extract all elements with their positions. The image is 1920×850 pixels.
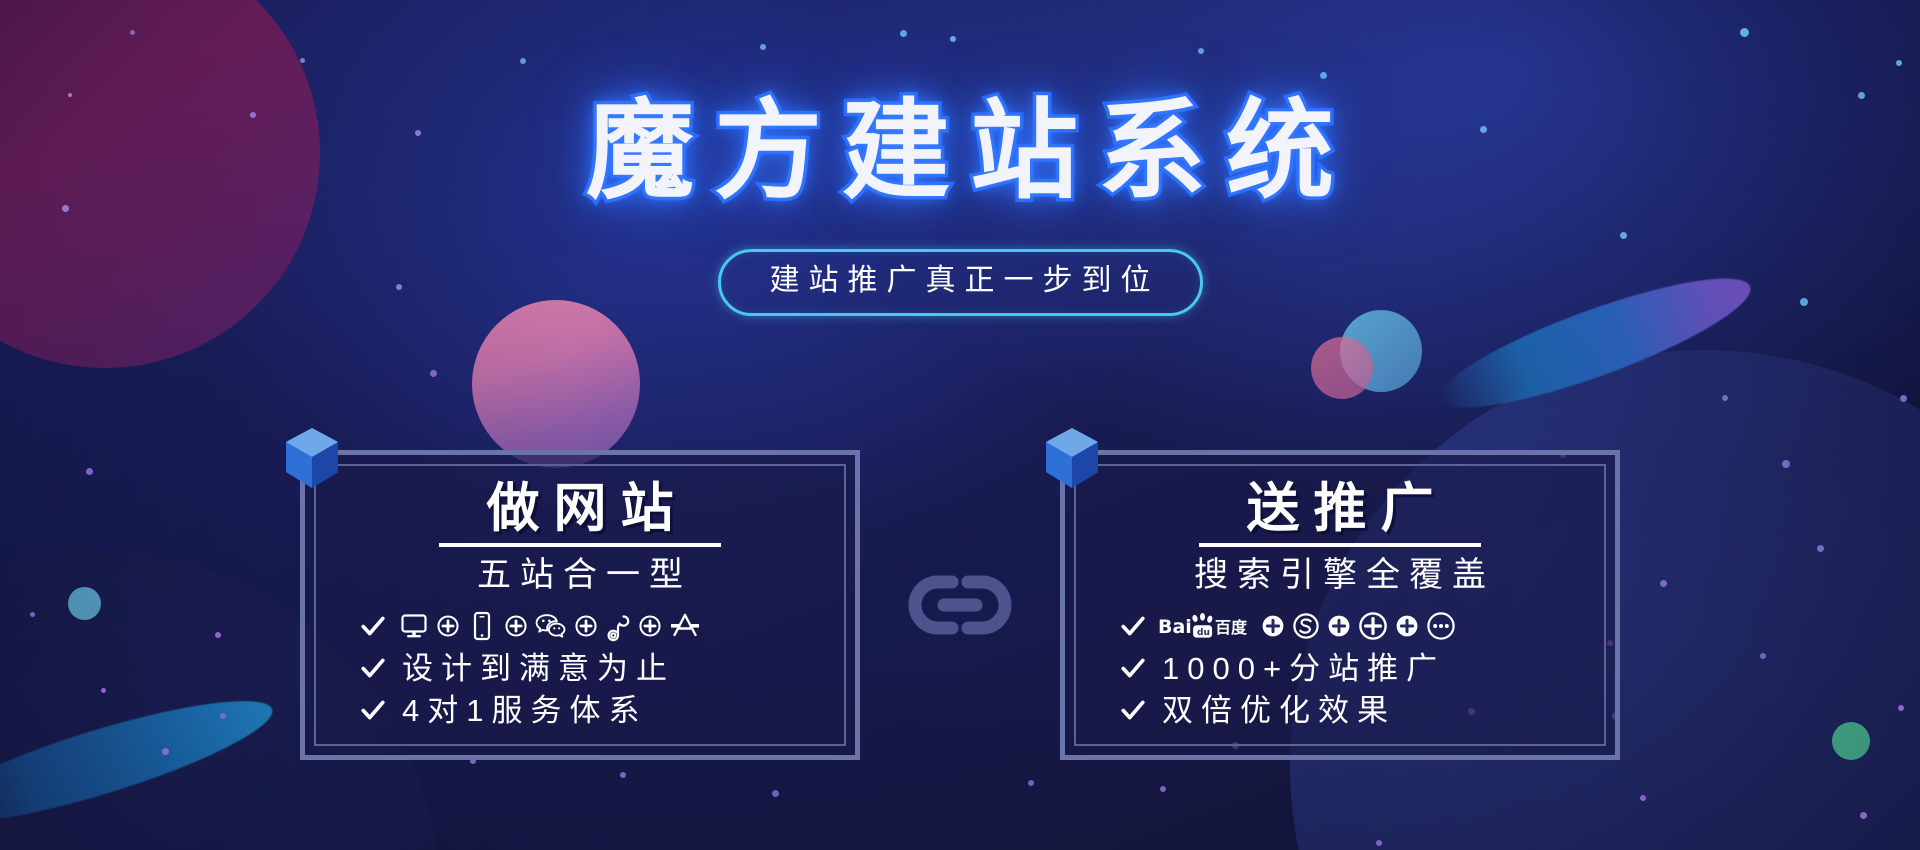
check-icon (1120, 697, 1146, 723)
feature-label: 设计到满意为止 (398, 653, 675, 684)
hero-block: 魔方建站系统 建站推广真正一步到位 (0, 92, 1920, 316)
feature-row: 设计到满意为止 (316, 647, 844, 689)
360-search-icon (1358, 611, 1388, 641)
check-icon (360, 655, 386, 681)
star-dot (1896, 60, 1902, 66)
monitor-icon (398, 610, 430, 642)
feature-label: 4对1服务体系 (398, 695, 647, 726)
panel-subheading: 五站合一型 (468, 553, 692, 599)
star-dot (520, 58, 526, 64)
star-dot (1376, 840, 1382, 846)
more-icon (1426, 611, 1456, 641)
star-dot (620, 772, 626, 778)
feature-list: 设计到满意为止 4对1服务体系 (316, 605, 844, 731)
wechat-icon (534, 610, 568, 642)
page-title: 魔方建站系统 (0, 92, 1920, 213)
plus-icon (505, 615, 527, 637)
star-dot (300, 58, 305, 63)
star-dot (1740, 28, 1749, 37)
star-dot (430, 370, 437, 377)
panel-divider (439, 543, 721, 547)
search-engine-icon-row: Bai du 百度 (1158, 611, 1456, 641)
star-dot (900, 30, 907, 37)
feature-row-icons: Bai du 百度 (1076, 605, 1604, 647)
star-dot (1860, 812, 1867, 819)
svg-text:百度: 百度 (1215, 618, 1248, 637)
feature-label: 1000+分站推广 (1158, 653, 1445, 684)
star-dot (1028, 780, 1034, 786)
star-dot (1198, 48, 1204, 54)
chain-link-wrapper (860, 450, 1060, 760)
app-store-icon (668, 610, 702, 642)
plus-icon (437, 615, 459, 637)
feature-label: 双倍优化效果 (1158, 695, 1396, 726)
chain-link-icon (904, 572, 1016, 638)
star-dot (950, 36, 956, 42)
panel-inner-border: 做网站 五站合一型 (314, 464, 846, 746)
panel-heading: 做网站 (473, 478, 688, 539)
check-icon (360, 613, 386, 639)
plus-icon (1327, 614, 1351, 638)
star-dot (1900, 395, 1907, 402)
cube-decoration-icon (1042, 426, 1102, 492)
promo-banner: 魔方建站系统 建站推广真正一步到位 做网站 五站合一型 (0, 0, 1920, 850)
check-icon (1120, 655, 1146, 681)
feature-row-icons (316, 605, 844, 647)
feature-panels: 做网站 五站合一型 (0, 450, 1920, 760)
panel-subheading: 搜索引擎全覆盖 (1185, 553, 1495, 599)
plus-icon (1261, 614, 1285, 638)
platform-icon-row (398, 610, 702, 642)
feature-row: 4对1服务体系 (316, 689, 844, 731)
subtitle-badge: 建站推广真正一步到位 (718, 249, 1203, 317)
star-dot (1722, 395, 1728, 401)
check-icon (360, 697, 386, 723)
panel-divider (1199, 543, 1481, 547)
cube-decoration-icon (282, 426, 342, 492)
plus-icon (1395, 614, 1419, 638)
feature-row: 双倍优化效果 (1076, 689, 1604, 731)
baidu-latin: Bai (1158, 616, 1192, 638)
star-dot (1160, 786, 1166, 792)
svg-text:du: du (1197, 628, 1210, 638)
feature-row: 1000+分站推广 (1076, 647, 1604, 689)
check-icon (1120, 613, 1146, 639)
plus-icon (639, 615, 661, 637)
plus-icon (575, 615, 597, 637)
star-dot (1640, 795, 1646, 801)
panel-inner-border: 送推广 搜索引擎全覆盖 Bai (1074, 464, 1606, 746)
panel-free-promotion[interactable]: 送推广 搜索引擎全覆盖 Bai (1060, 450, 1620, 760)
panel-heading: 送推广 (1233, 478, 1448, 539)
star-dot (772, 790, 779, 797)
mobile-phone-icon (466, 610, 498, 642)
weibo-icon (604, 610, 632, 642)
subtitle-text: 建站推广真正一步到位 (761, 264, 1160, 297)
sogou-icon (1292, 612, 1320, 640)
star-dot (760, 44, 766, 50)
star-dot (1320, 72, 1327, 79)
panel-make-website[interactable]: 做网站 五站合一型 (300, 450, 860, 760)
star-dot (130, 30, 135, 35)
feature-list: Bai du 百度 (1076, 605, 1604, 731)
baidu-icon: Bai du 百度 (1158, 612, 1254, 640)
